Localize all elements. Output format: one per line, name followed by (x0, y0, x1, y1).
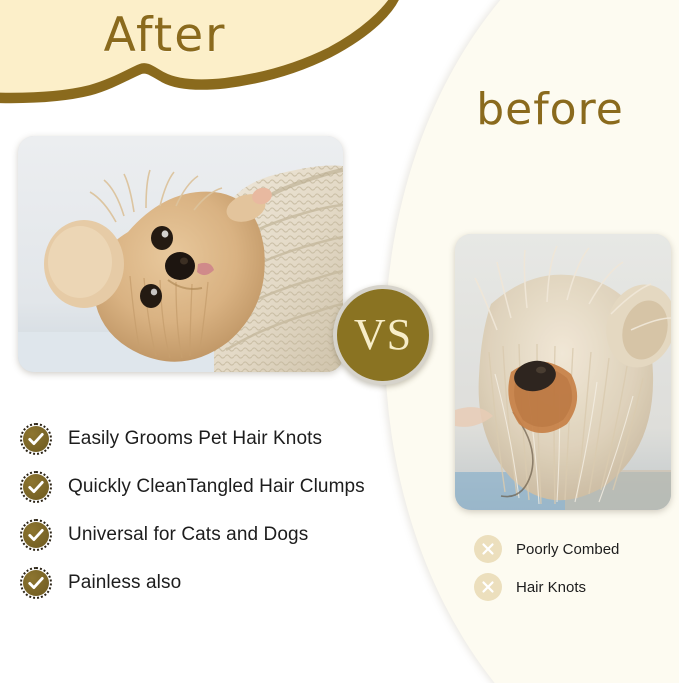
list-item: Universal for Cats and Dogs (20, 511, 380, 559)
benefit-label: Quickly CleanTangled Hair Clumps (68, 476, 365, 498)
check-icon (20, 567, 52, 599)
benefit-label: Universal for Cats and Dogs (68, 524, 308, 546)
benefit-label: Easily Grooms Pet Hair Knots (68, 428, 322, 450)
problems-list: Poorly Combed Hair Knots (474, 530, 674, 606)
list-item: Easily Grooms Pet Hair Knots (20, 415, 380, 463)
benefits-list: Easily Grooms Pet Hair Knots Quickly Cle… (20, 415, 380, 607)
before-title: before (430, 84, 670, 135)
list-item: Quickly CleanTangled Hair Clumps (20, 463, 380, 511)
problem-label: Poorly Combed (516, 541, 619, 558)
benefit-label: Painless also (68, 572, 181, 594)
check-icon (20, 471, 52, 503)
check-icon (20, 519, 52, 551)
check-icon (20, 423, 52, 455)
before-photo (455, 234, 671, 510)
list-item: Poorly Combed (474, 530, 674, 568)
after-photo (18, 136, 343, 372)
list-item: Painless also (20, 559, 380, 607)
x-icon (474, 573, 502, 601)
after-title: After (0, 8, 330, 63)
problem-label: Hair Knots (516, 579, 586, 596)
list-item: Hair Knots (474, 568, 674, 606)
comparison-infographic: After before (0, 0, 679, 683)
x-icon (474, 535, 502, 563)
vs-badge-label: VS (354, 313, 412, 357)
vs-badge: VS (333, 285, 433, 385)
